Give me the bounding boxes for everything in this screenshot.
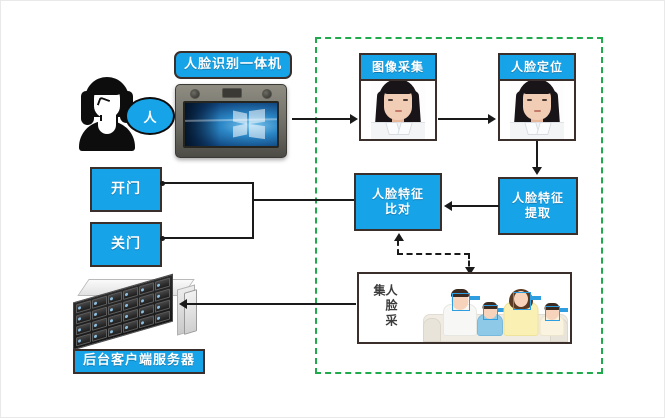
device-screen[interactable]: [183, 101, 279, 148]
face-tag-mother: [530, 296, 541, 300]
step-feature-extract-line1: 人脸特征: [512, 191, 564, 206]
step-face-detection-label: 人脸定位: [500, 55, 574, 81]
portrait-photo: [510, 81, 564, 139]
portrait-photo: [371, 81, 425, 139]
connector-to-open-door: [164, 182, 254, 184]
close-door-label: 关门: [111, 236, 141, 254]
step-face-enrollment-label: 人脸采集: [373, 284, 397, 342]
camera-left-icon: [190, 89, 200, 99]
connector-to-close-door: [164, 237, 254, 239]
step-feature-extract-line2: 提取: [525, 206, 551, 221]
open-door-box[interactable]: 开门: [90, 167, 162, 212]
terminal-title-box: 人脸识别一体机: [174, 51, 292, 79]
connector-capture-to-detection: [438, 118, 490, 120]
person-bubble-label: 人: [143, 107, 156, 126]
step-image-capture[interactable]: 图像采集: [359, 53, 437, 141]
fringe: [92, 81, 122, 95]
step-image-capture-label: 图像采集: [361, 55, 435, 81]
window-pane-4: [249, 124, 265, 139]
step-face-enrollment[interactable]: 人脸采集: [357, 272, 572, 344]
server-label: 后台客户端服务器: [83, 353, 195, 369]
arrowhead-capture-to-detection: [488, 114, 496, 124]
step-feature-compare-line2: 比对: [385, 202, 411, 217]
junction-close-door: [160, 236, 165, 241]
connector-enrollment-feedback-across: [397, 253, 470, 255]
drive-bay: [139, 315, 154, 328]
connector-terminal-to-capture: [292, 118, 352, 120]
face-recognition-terminal[interactable]: [175, 84, 287, 158]
connector-extract-to-compare: [451, 205, 499, 207]
arrowhead-to-server: [179, 299, 187, 309]
server-rack-icon: [73, 279, 195, 339]
face-box-mother: [513, 292, 531, 310]
face-box-boy: [483, 305, 498, 320]
junction-open-door: [160, 181, 165, 186]
connector-enrollment-feedback-to-compare: [397, 241, 399, 254]
drive-bay: [92, 329, 107, 342]
step-face-detection[interactable]: 人脸定位: [498, 53, 576, 141]
family-group-photo: [421, 276, 570, 342]
arrowhead-feedback-to-compare: [394, 233, 404, 241]
face-box-girl: [545, 306, 560, 321]
device-bezel-top: [176, 85, 286, 100]
step-feature-compare[interactable]: 人脸特征 比对: [354, 173, 442, 231]
connector-door-trunk: [252, 182, 254, 239]
face-tag-girl: [559, 308, 568, 312]
ir-sensor-icon: [222, 88, 242, 98]
terminal-title-label: 人脸识别一体机: [184, 57, 282, 73]
close-door-box[interactable]: 关门: [90, 222, 162, 267]
drive-bay: [123, 320, 138, 333]
arrowhead-detection-to-extract: [532, 167, 542, 175]
face-box-father: [452, 293, 470, 311]
connector-compare-trunk: [252, 199, 354, 201]
window-pane-2: [249, 109, 265, 124]
drive-bay: [155, 311, 170, 324]
camera-right-icon: [262, 89, 272, 99]
window-pane-1: [233, 110, 247, 124]
person-bubble: 人: [125, 97, 175, 135]
step-face-detection-photo: [500, 81, 574, 139]
step-feature-extract[interactable]: 人脸特征 提取: [498, 177, 578, 235]
wallpaper-shade: [185, 103, 220, 146]
diagram-canvas: 人 人脸识别一体机 开门 关门: [0, 0, 665, 418]
sofa-arm-left: [423, 318, 441, 342]
connector-detection-to-extract: [536, 141, 538, 169]
arrowhead-extract-to-compare: [444, 201, 452, 211]
server-control-panel: [184, 289, 197, 335]
step-feature-compare-line1: 人脸特征: [372, 187, 424, 202]
step-image-capture-photo: [361, 81, 435, 139]
connector-enrollment-to-server: [186, 303, 356, 305]
server-label-box: 后台客户端服务器: [73, 349, 205, 374]
drive-bay: [108, 324, 123, 337]
drive-bay: [76, 333, 91, 346]
arrowhead-terminal-to-capture: [350, 114, 358, 124]
open-door-label: 开门: [111, 181, 141, 199]
